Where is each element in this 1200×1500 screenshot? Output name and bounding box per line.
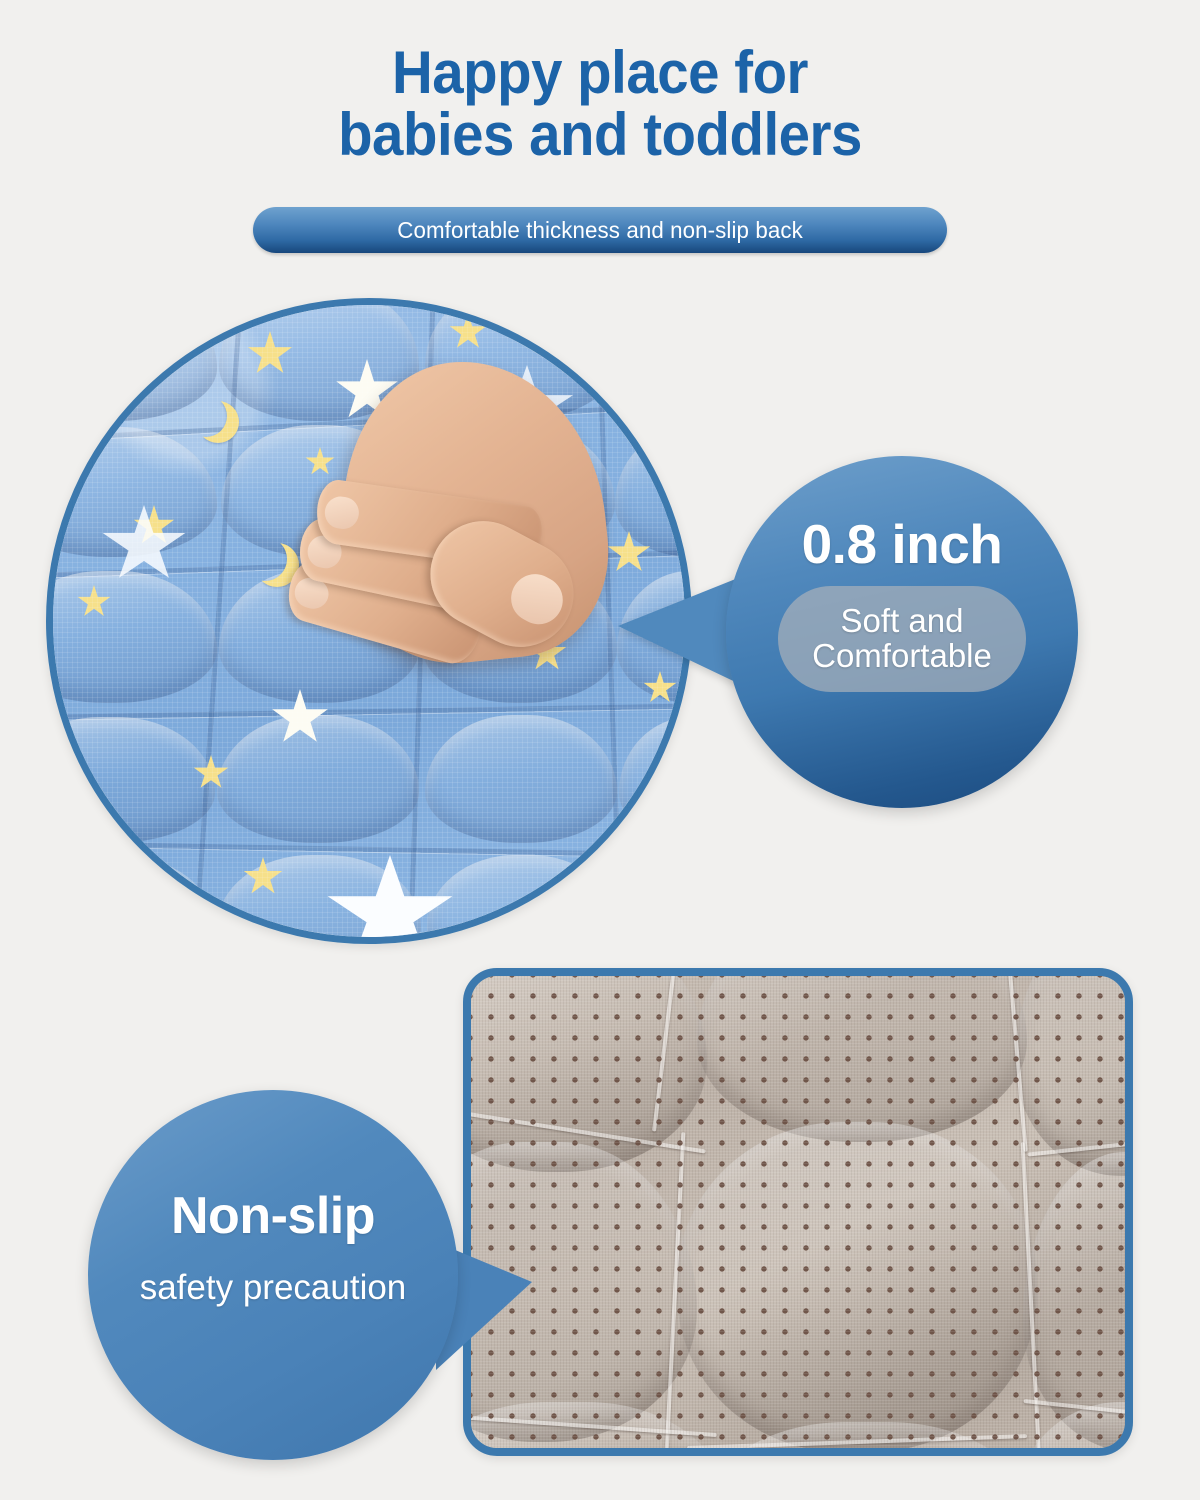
callout-disc: 0.8 inch Soft and Comfortable xyxy=(726,456,1078,808)
photo-hand-on-mattress xyxy=(46,298,692,944)
mattress-fabric xyxy=(47,299,691,943)
subtitle-banner-label: Comfortable thickness and non-slip back xyxy=(397,217,803,244)
page-title: Happy place for babies and toddlers xyxy=(36,42,1164,166)
callout-nonslip-title: Non-slip xyxy=(88,1186,458,1246)
callout-thickness: 0.8 inch Soft and Comfortable xyxy=(726,456,1078,808)
fabric-texture xyxy=(467,972,1129,1452)
thumbnail xyxy=(503,566,571,633)
nonslip-fabric xyxy=(467,972,1129,1452)
photo-nonslip-backing xyxy=(463,968,1133,1456)
hand-pressing xyxy=(302,361,632,791)
subtitle-banner: Comfortable thickness and non-slip back xyxy=(253,207,947,253)
pill-line-1: Soft and xyxy=(841,604,964,639)
callout-disc: Non-slip safety precaution xyxy=(88,1090,458,1460)
fingernail xyxy=(323,495,361,531)
callout-nonslip-subtitle: safety precaution xyxy=(88,1268,458,1308)
pill-line-2: Comfortable xyxy=(812,639,992,674)
product-feature-page: Happy place for babies and toddlers Comf… xyxy=(0,0,1200,1500)
callout-nonslip: Non-slip safety precaution xyxy=(88,1090,458,1460)
callout-thickness-title: 0.8 inch xyxy=(726,512,1078,576)
callout-thickness-pill: Soft and Comfortable xyxy=(778,586,1026,692)
